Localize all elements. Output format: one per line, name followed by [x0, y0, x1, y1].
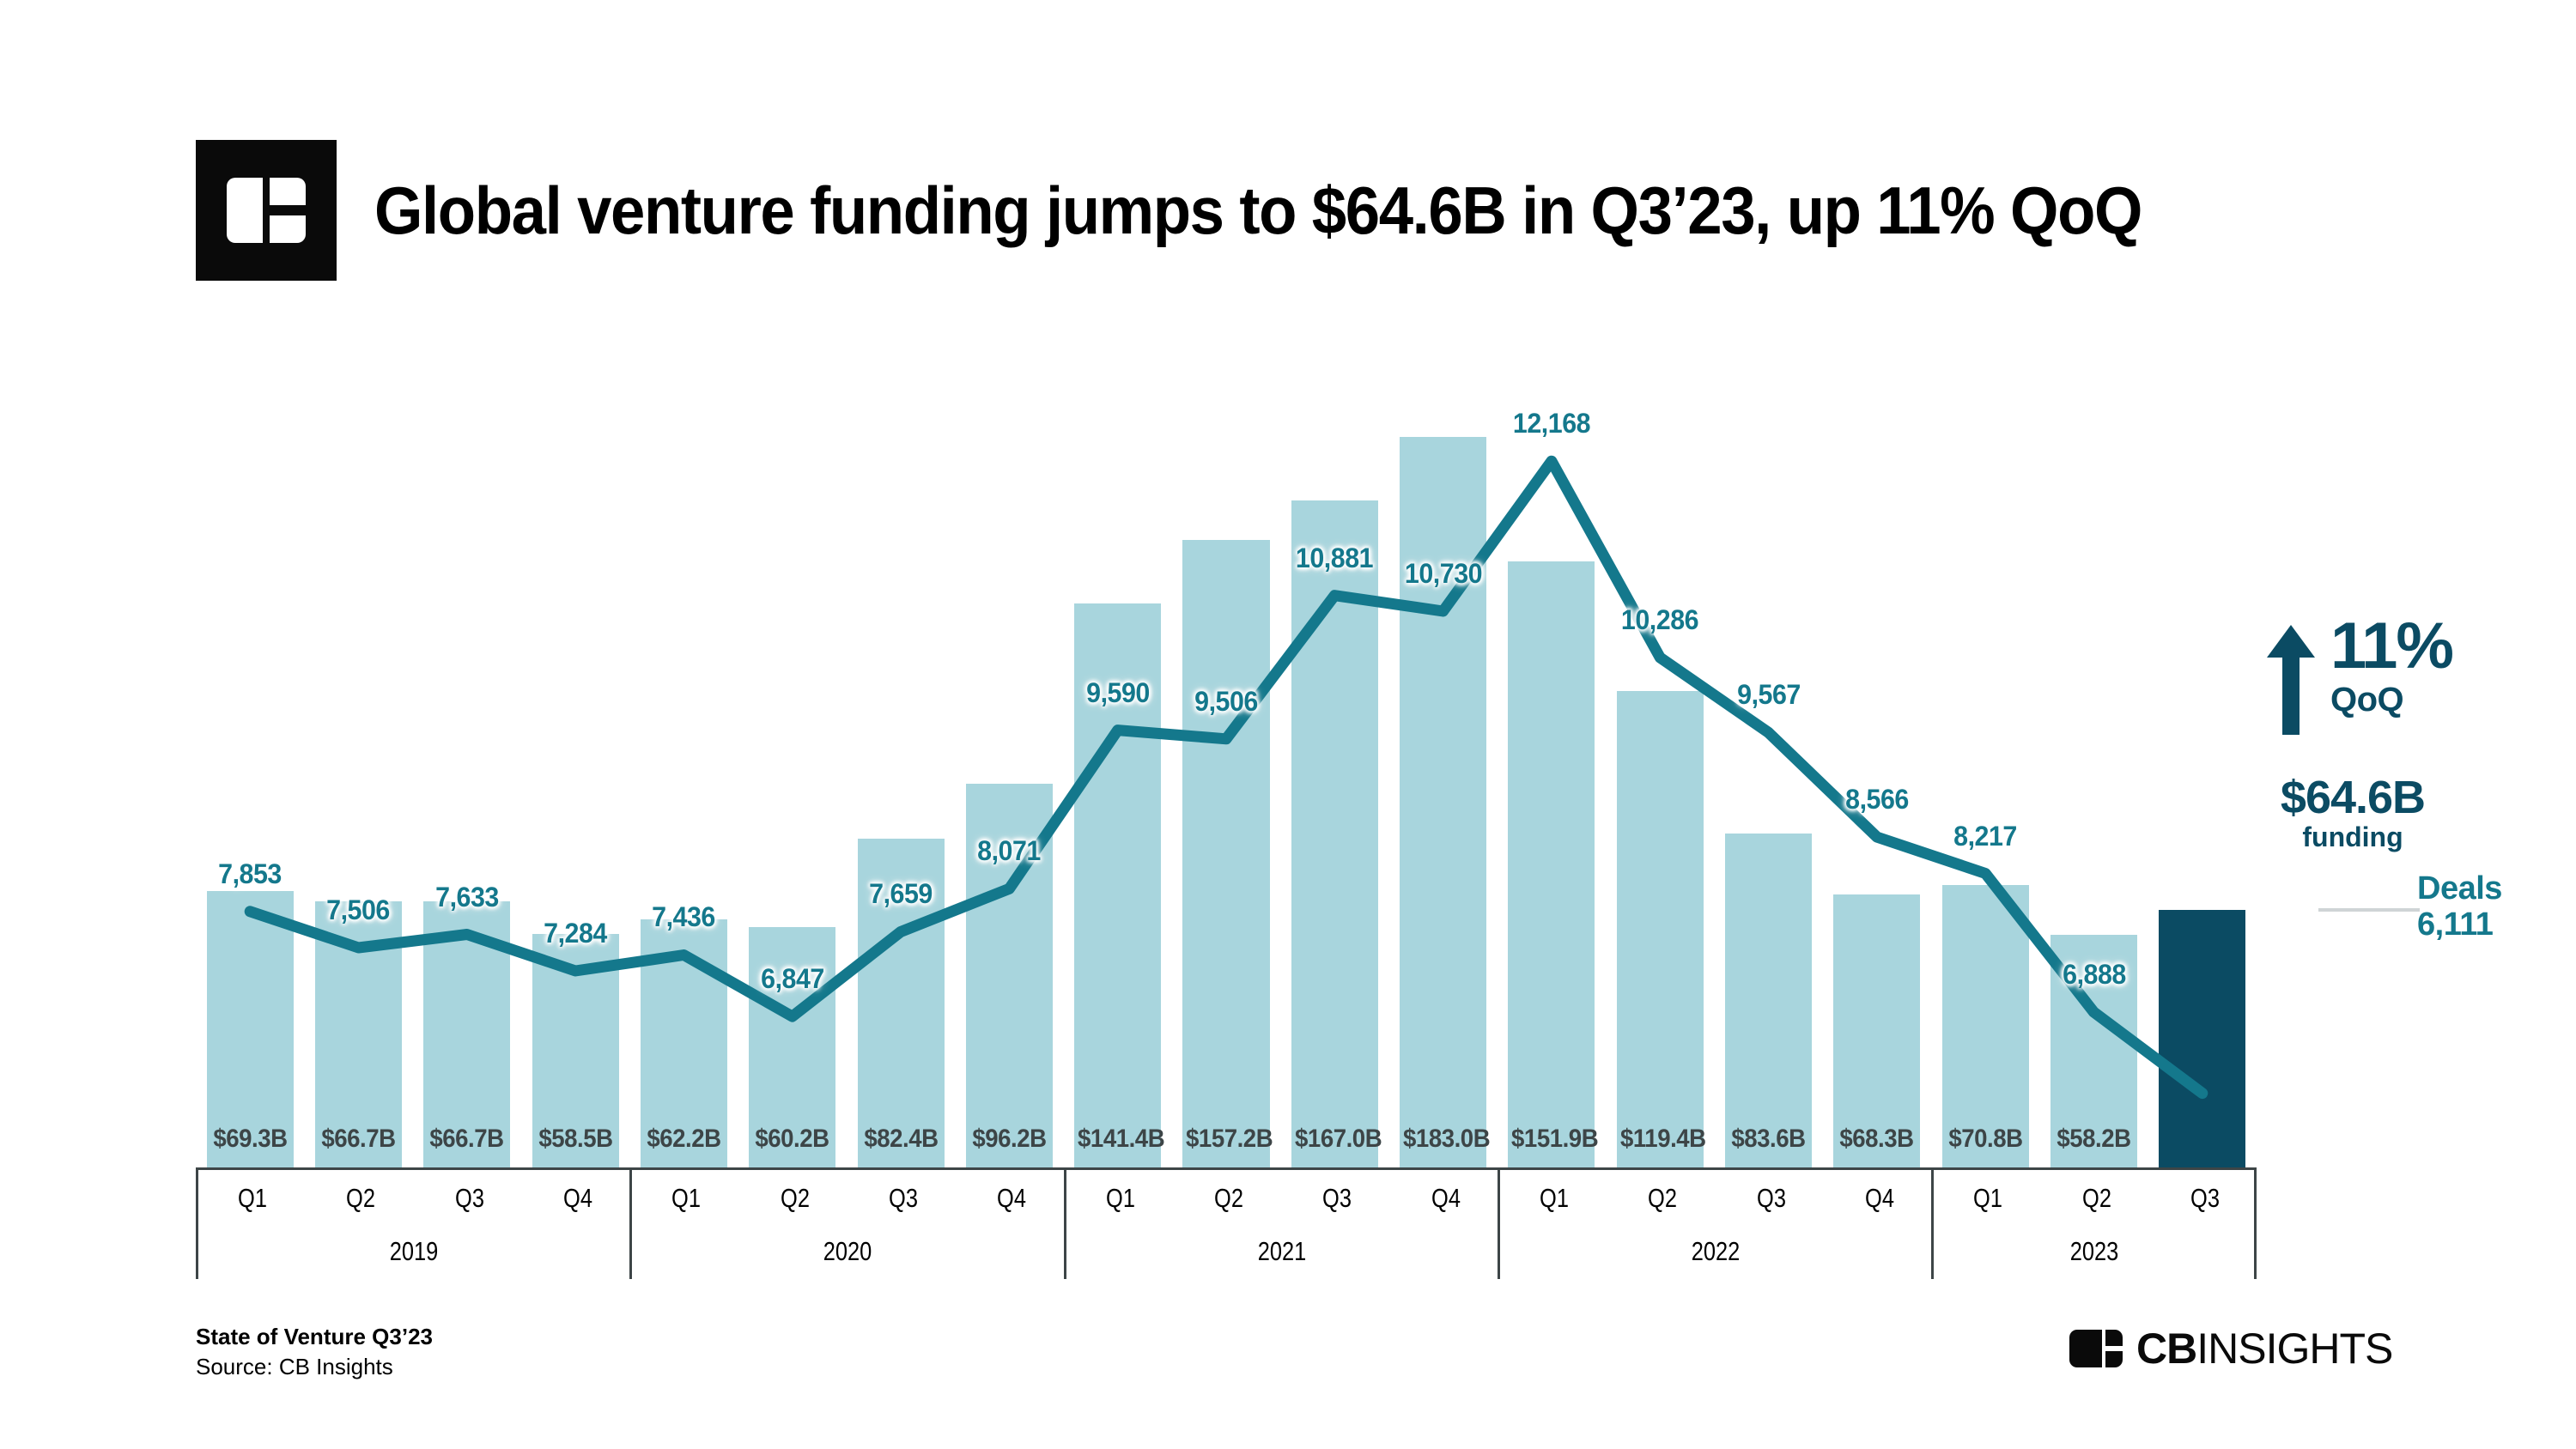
- header: Global venture funding jumps to $64.6B i…: [196, 137, 2275, 283]
- deals-callout-title: Deals: [2417, 872, 2502, 906]
- footer-logo-shape-top-right: [2105, 1330, 2123, 1346]
- bar-q4-2021: $183.0B: [1400, 437, 1486, 1167]
- axis-year-label: 2020: [823, 1236, 872, 1267]
- axis-year-label: 2023: [2069, 1236, 2118, 1267]
- arrow-up-icon: [2267, 625, 2315, 735]
- bar-q4-2022: $68.3B: [1833, 894, 1920, 1167]
- axis-quarter-tick: Q1: [1540, 1183, 1569, 1214]
- axis-year-group-2021: Q1Q2Q3Q42021: [1064, 1167, 1498, 1279]
- x-axis: Q1Q2Q3Q42019Q1Q2Q3Q42020Q1Q2Q3Q42021Q1Q2…: [196, 1167, 2257, 1279]
- axis-quarter-tick: Q3: [1322, 1183, 1352, 1214]
- footer-wordmark-light: INSIGHTS: [2196, 1325, 2392, 1373]
- bar-value-label: $141.4B: [1078, 1125, 1157, 1154]
- bar-value-label: $151.9B: [1511, 1125, 1591, 1154]
- deals-value-label: 9,590: [1086, 677, 1150, 709]
- bar-q3-2022: $83.6B: [1725, 834, 1812, 1167]
- deals-value-label: 8,217: [1953, 821, 2017, 852]
- axis-year-label: 2022: [1692, 1236, 1741, 1267]
- bar-q3-2023: [2159, 910, 2245, 1167]
- cb-insights-mark-icon: [2069, 1330, 2123, 1367]
- axis-year-label: 2021: [1257, 1236, 1306, 1267]
- deals-value-label: 10,730: [1405, 558, 1482, 590]
- footer-credits: State of Venture Q3’23 Source: CB Insigh…: [196, 1322, 433, 1382]
- deals-value-label: 9,506: [1194, 686, 1258, 718]
- qoq-text-block: 11% QoQ: [2330, 616, 2452, 718]
- bar-value-label: $70.8B: [1946, 1125, 2026, 1154]
- axis-quarter-tick: Q2: [781, 1183, 810, 1214]
- axis-quarter-tick: Q3: [889, 1183, 918, 1214]
- deals-value-label: 8,566: [1845, 784, 1909, 815]
- chart-plot-area: $69.3B$66.7B$66.7B$58.5B$62.2B$60.2B$82.…: [196, 369, 2428, 1167]
- axis-quarter-tick: Q2: [2082, 1183, 2111, 1214]
- footer-logo-shape-bottom-right: [2105, 1351, 2123, 1367]
- bar-value-label: $60.2B: [752, 1125, 832, 1154]
- deals-value-label: 7,633: [435, 882, 499, 913]
- bar-value-label: $82.4B: [861, 1125, 941, 1154]
- bar-value-label: $183.0B: [1403, 1125, 1483, 1154]
- bar-value-label: $83.6B: [1728, 1125, 1808, 1154]
- bar-value-label: $96.2B: [969, 1125, 1049, 1154]
- footer-report-title: State of Venture Q3’23: [196, 1322, 433, 1352]
- deals-value-label: 7,659: [869, 878, 933, 910]
- cb-insights-mark-icon: [196, 140, 337, 281]
- bar-value-label: $66.7B: [319, 1125, 398, 1154]
- bar-q1-2023: $70.8B: [1942, 885, 2029, 1167]
- bar-q1-2022: $151.9B: [1508, 561, 1595, 1167]
- bar-value-label: $167.0B: [1295, 1125, 1375, 1154]
- axis-quarter-tick: Q1: [671, 1183, 701, 1214]
- axis-year-group-2019: Q1Q2Q3Q42019: [196, 1167, 629, 1279]
- deals-value-label: 7,853: [218, 858, 282, 890]
- axis-year-label: 2019: [390, 1236, 439, 1267]
- axis-year-group-2022: Q1Q2Q3Q42022: [1498, 1167, 1931, 1279]
- qoq-percent-value: 11%: [2330, 616, 2452, 676]
- axis-year-group-2023: Q1Q2Q32023: [1931, 1167, 2257, 1279]
- axis-quarter-tick: Q2: [1214, 1183, 1243, 1214]
- bar-value-label: $68.3B: [1837, 1125, 1917, 1154]
- axis-quarter-tick: Q1: [238, 1183, 267, 1214]
- deals-value-label: 10,881: [1296, 543, 1373, 574]
- axis-quarter-tick: Q2: [1648, 1183, 1677, 1214]
- axis-quarter-tick: Q1: [1106, 1183, 1135, 1214]
- bar-q4-2019: $58.5B: [532, 934, 619, 1167]
- bars-container: $69.3B$66.7B$66.7B$58.5B$62.2B$60.2B$82.…: [196, 369, 2257, 1167]
- axis-quarter-tick: Q4: [1865, 1183, 1894, 1214]
- qoq-row: 11% QoQ: [2267, 616, 2559, 735]
- deals-callout: Deals 6,111: [2417, 872, 2502, 943]
- axis-quarter-tick: Q2: [347, 1183, 376, 1214]
- qoq-percent-sublabel: QoQ: [2330, 682, 2452, 718]
- bar-q2-2019: $66.7B: [315, 901, 402, 1167]
- funding-sublabel: funding: [2267, 822, 2439, 852]
- bar-value-label: $157.2B: [1187, 1125, 1267, 1154]
- axis-quarter-tick: Q3: [2190, 1183, 2220, 1214]
- logo-shape-left: [227, 178, 263, 243]
- bar-value-label: $69.3B: [210, 1125, 290, 1154]
- bar-q2-2021: $157.2B: [1182, 540, 1269, 1167]
- bar-value-label: $119.4B: [1620, 1125, 1700, 1154]
- axis-quarter-tick: Q4: [997, 1183, 1026, 1214]
- footer-wordmark: CBINSIGHTS: [2136, 1324, 2392, 1373]
- deals-leader-line: [2318, 908, 2420, 912]
- footer-source: Source: CB Insights: [196, 1352, 433, 1382]
- axis-quarter-tick: Q4: [563, 1183, 592, 1214]
- axis-quarter-tick: Q1: [1973, 1183, 2002, 1214]
- bar-value-label: $62.2B: [644, 1125, 724, 1154]
- axis-quarter-tick: Q4: [1431, 1183, 1461, 1214]
- qoq-annotation: 11% QoQ $64.6B funding: [2267, 616, 2559, 852]
- axis-quarter-tick: Q3: [455, 1183, 484, 1214]
- bar-q2-2022: $119.4B: [1617, 691, 1704, 1167]
- deals-value-label: 6,847: [761, 963, 824, 995]
- deals-value-label: 7,284: [544, 918, 607, 949]
- deals-value-label: 7,506: [327, 894, 391, 926]
- deals-value-label: 8,071: [978, 835, 1042, 867]
- bar-q3-2019: $66.7B: [423, 901, 510, 1167]
- footer-logo: CBINSIGHTS: [2069, 1324, 2392, 1373]
- bar-q1-2020: $62.2B: [641, 919, 727, 1167]
- bar-value-label: $58.5B: [536, 1125, 616, 1154]
- funding-callout: $64.6B funding: [2267, 774, 2439, 852]
- footer-logo-shape-left: [2069, 1330, 2102, 1367]
- bar-value-label: $66.7B: [427, 1125, 507, 1154]
- deals-value-label: 9,567: [1737, 679, 1801, 711]
- deals-value-label: 7,436: [653, 901, 716, 933]
- axis-quarter-tick: Q3: [1757, 1183, 1786, 1214]
- deals-value-label: 6,888: [2063, 959, 2126, 991]
- bar-q3-2021: $167.0B: [1291, 500, 1378, 1167]
- funding-value: $64.6B: [2267, 774, 2439, 821]
- axis-year-group-2020: Q1Q2Q3Q42020: [629, 1167, 1063, 1279]
- page-title: Global venture funding jumps to $64.6B i…: [374, 172, 2142, 250]
- deals-value-label: 10,286: [1621, 604, 1698, 636]
- bar-value-label: $58.2B: [2054, 1125, 2134, 1154]
- logo-shape-bottom-right: [270, 215, 306, 243]
- footer-wordmark-bold: CB: [2136, 1325, 2196, 1373]
- deals-callout-value: 6,111: [2417, 906, 2502, 943]
- deals-value-label: 12,168: [1513, 408, 1590, 440]
- bar-q1-2019: $69.3B: [207, 891, 294, 1167]
- logo-shape-top-right: [270, 178, 306, 205]
